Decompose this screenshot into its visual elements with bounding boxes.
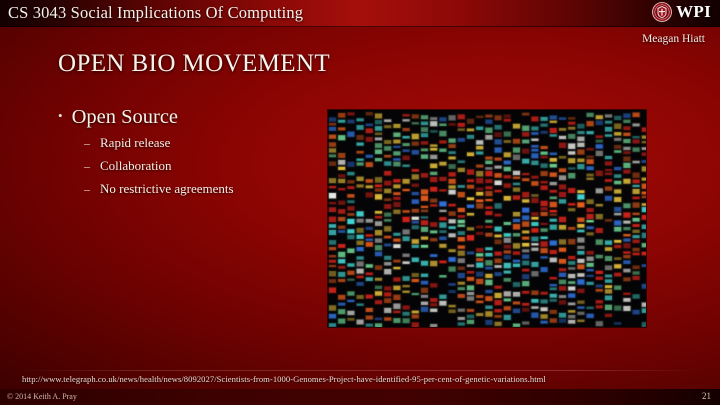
footer-bar: [0, 389, 720, 405]
wpi-seal-icon: [652, 2, 672, 22]
slide-header-bar: CS 3043 Social Implications Of Computing…: [0, 0, 720, 27]
course-title: CS 3043 Social Implications Of Computing: [8, 3, 303, 23]
wpi-logo: WPI: [652, 2, 711, 22]
bullet-item-level1: • Open Source: [58, 106, 308, 129]
page-number: 21: [702, 391, 711, 401]
bullet-item-level2: – No restrictive agreements: [84, 181, 308, 197]
copyright-notice: © 2014 Keith A. Pray: [7, 392, 77, 401]
gel-canvas: [328, 110, 646, 327]
footer-divider: [20, 370, 700, 371]
bullet-marker-dash-icon: –: [84, 160, 90, 172]
bullet-text: No restrictive agreements: [100, 181, 234, 197]
bullet-marker-dot-icon: •: [58, 109, 63, 122]
bullet-list: • Open Source – Rapid release – Collabor…: [58, 106, 308, 204]
bullet-item-level2: – Collaboration: [84, 158, 308, 174]
author-name: Meagan Hiatt: [642, 33, 705, 45]
bullet-marker-dash-icon: –: [84, 137, 90, 149]
presentation-slide: CS 3043 Social Implications Of Computing…: [0, 0, 720, 405]
source-url[interactable]: http://www.telegraph.co.uk/news/health/n…: [22, 374, 712, 384]
slide-title: OPEN BIO MOVEMENT: [58, 50, 330, 78]
wpi-wordmark: WPI: [676, 2, 711, 22]
bullet-text: Rapid release: [100, 135, 170, 151]
dna-sequencing-gel-image: [328, 110, 646, 327]
bullet-text: Collaboration: [100, 158, 172, 174]
bullet-marker-dash-icon: –: [84, 183, 90, 195]
bullet-item-level2: – Rapid release: [84, 135, 308, 151]
bullet-text: Open Source: [72, 106, 178, 129]
